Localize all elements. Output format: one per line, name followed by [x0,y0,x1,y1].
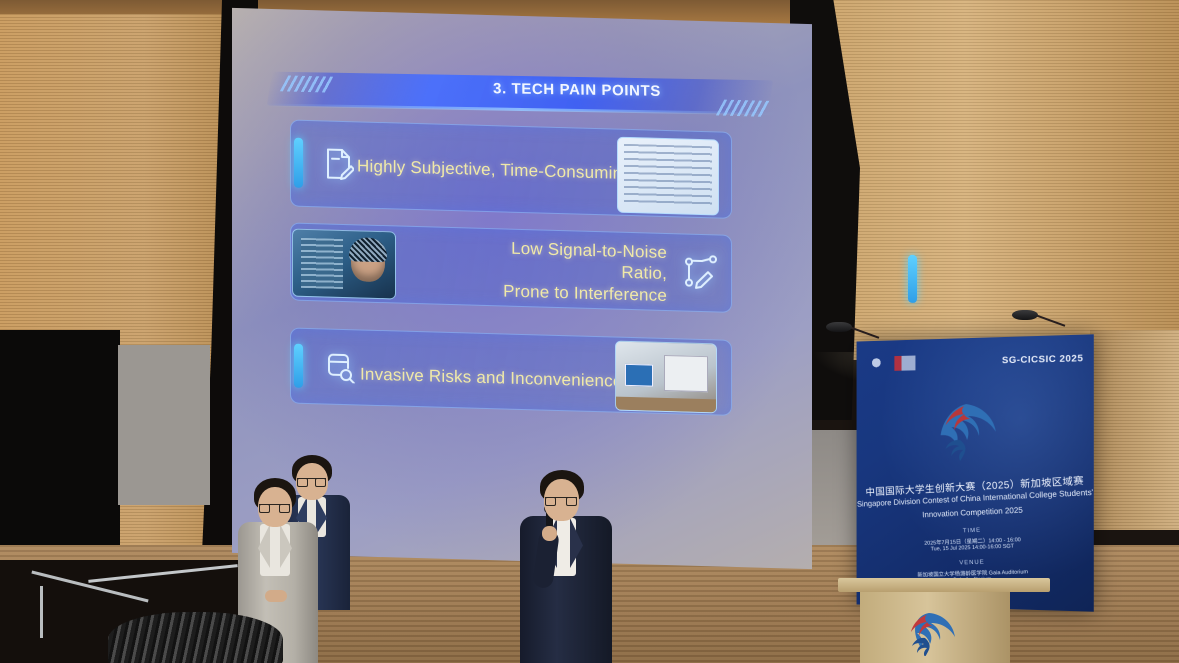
wood-wall-right-lower [1090,330,1179,530]
competition-swirl-logo [900,610,958,656]
podium-top [838,578,1050,592]
questionnaire-form-thumbnail [617,137,719,216]
magnifier-device-icon [324,350,356,383]
row-1-accent-bar [294,138,303,188]
node-graph-pencil-icon [684,253,718,290]
event-code: SG-CICSIC 2025 [1002,353,1083,366]
pain-point-2-line-1: Low Signal-to-Noise Ratio, [482,237,667,285]
row-3-accent-bar [294,344,303,388]
handrail-post [40,586,43,638]
side-grey-panel [118,345,210,505]
event-banner: SG-CICSIC 2025 中国国际大学生创新大赛（2025）新加坡区域赛 S… [857,334,1094,611]
document-pencil-icon [324,146,354,181]
podium [838,578,1050,663]
conference-photo: 3. TECH PAIN POINTS Highly Subjective, T… [0,0,1179,663]
decor-stripes-right [716,100,771,117]
medical-equipment-thumbnail [615,341,717,414]
speaker-with-microphone [512,470,622,663]
medicine-school-logo [894,356,915,371]
competition-emblem [931,400,1002,469]
row-2-accent-bar [908,255,917,303]
eeg-cap-subject-thumbnail [292,229,396,300]
audience-member-foreground [108,612,283,663]
pain-point-2-text: Low Signal-to-Noise Ratio, Prone to Inte… [482,237,667,306]
decor-stripes-left [280,75,335,92]
nus-logo [868,356,885,370]
